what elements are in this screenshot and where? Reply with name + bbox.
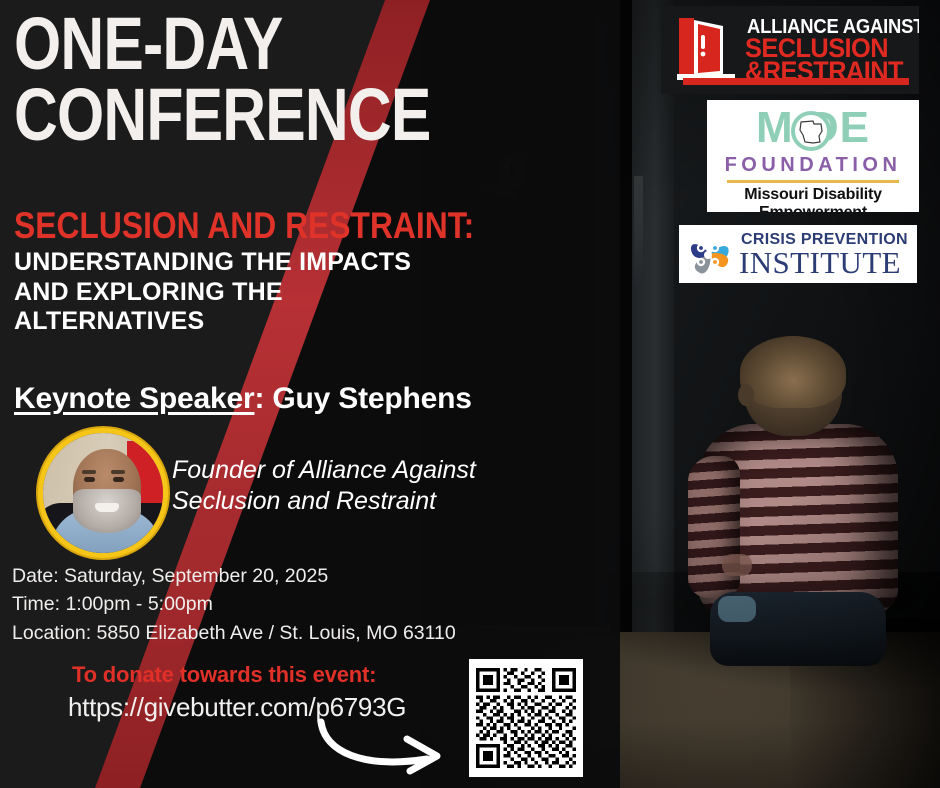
event-details: Date: Saturday, September 20, 2025 Time:…	[12, 563, 456, 648]
curved-arrow-icon	[315, 718, 465, 780]
child-hand	[722, 554, 752, 576]
logo-alliance-against-seclusion-restraint: ALLIANCE AGAINST SECLUSION &RESTRAINT	[661, 6, 919, 94]
keynote-name: Guy Stephens	[272, 382, 471, 415]
event-date: Date: Saturday, September 20, 2025	[12, 563, 456, 589]
subtitle-secondary: UNDERSTANDING THE IMPACTS AND EXPLORING …	[14, 248, 454, 337]
event-location: Location: 5850 Elizabeth Ave / St. Louis…	[12, 620, 456, 646]
logo-mode-foundation-word: FOUNDATION	[707, 154, 919, 177]
speaker-role: Founder of Alliance Against Seclusion an…	[172, 455, 552, 518]
avatar-eye-right	[113, 477, 124, 482]
conference-poster: ONE-DAY CONFERENCE SECLUSION AND RESTRAI…	[0, 0, 940, 788]
cpi-pinwheel-icon	[686, 231, 734, 277]
logo-cpi-line2: INSTITUTE	[739, 245, 901, 281]
page-title: ONE-DAY CONFERENCE	[14, 8, 431, 150]
avatar-smile	[95, 503, 119, 512]
qr-code-icon[interactable]	[469, 659, 583, 777]
logo-mode-foundation: M DE FOUNDATION Missouri Disability Empo…	[707, 100, 919, 212]
avatar-eye-left	[84, 477, 95, 482]
logo-aasr-underline	[683, 78, 909, 85]
avatar-brow-left	[82, 470, 96, 474]
door-icon	[677, 18, 739, 82]
missouri-state-outline-icon	[791, 111, 831, 151]
donate-heading: To donate towards this event:	[72, 662, 376, 688]
child-figure	[682, 340, 922, 700]
child-hair	[740, 336, 846, 408]
logo-crisis-prevention-institute: CRISIS PREVENTION INSTITUTE	[679, 225, 917, 283]
event-time: Time: 1:00pm - 5:00pm	[12, 591, 456, 617]
logo-mode-divider	[727, 180, 899, 183]
door-jamb	[632, 0, 674, 642]
child-sock	[718, 596, 756, 622]
door-strike-plate	[634, 176, 643, 286]
child-ear	[738, 384, 754, 406]
subtitle-primary: SECLUSION AND RESTRAINT:	[14, 205, 474, 247]
keynote-speaker-line: Keynote Speaker: Guy Stephens	[14, 382, 472, 416]
keynote-separator: :	[254, 382, 272, 415]
keynote-label: Keynote Speaker	[14, 382, 254, 415]
avatar	[38, 428, 168, 558]
logo-mode-tagline: Missouri Disability Empowerment	[707, 186, 919, 212]
avatar-brow-right	[111, 470, 125, 474]
child-arm	[688, 456, 740, 598]
poster-content: ONE-DAY CONFERENCE SECLUSION AND RESTRAI…	[0, 0, 620, 788]
